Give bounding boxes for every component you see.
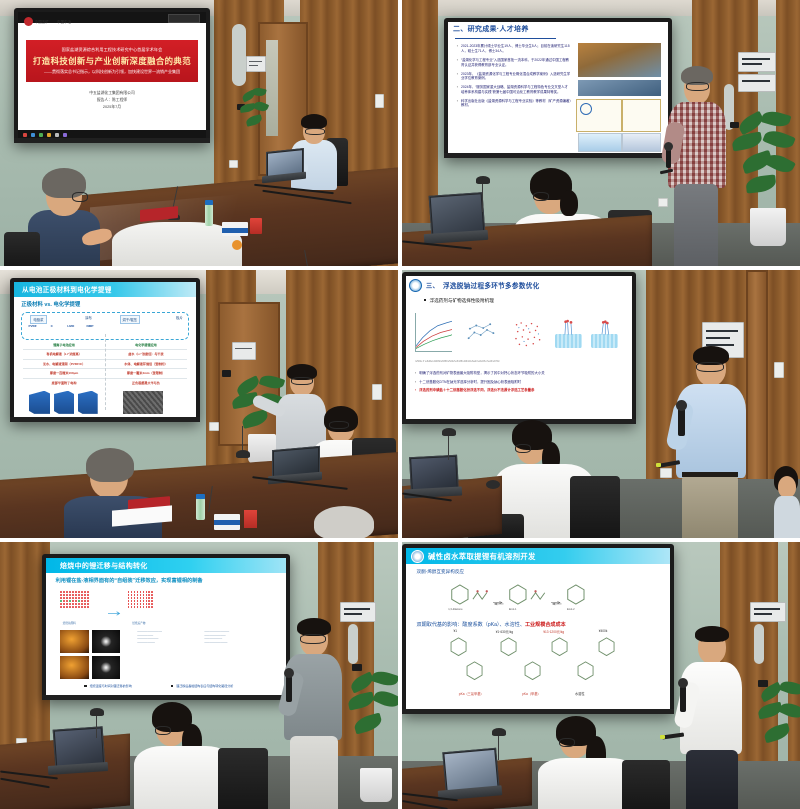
- display-screen: 从电池正极材料到电化学提锂 正极材料 vs. 电化学提锂 电极浆 涂布 烘干/辊…: [14, 282, 196, 418]
- ac-panel-line: [344, 608, 370, 610]
- lattice-atom: [63, 594, 65, 596]
- logo-minmetals: 中国五矿: [24, 17, 49, 26]
- lattice-atom: [140, 603, 142, 605]
- lattice-atom: [146, 603, 148, 605]
- ac-control-panel: [246, 56, 266, 72]
- slide-6: 碱性卤水萃取提锂有机溶剂开发 双酮-烯醇互变异构反应: [406, 548, 670, 710]
- belt: [682, 472, 738, 477]
- lattice-atom: [143, 606, 145, 608]
- person-hair: [301, 114, 327, 129]
- display-bezel-bottom: [14, 138, 210, 143]
- mineral-surface-model: [591, 334, 618, 348]
- slide-footer: 中五盐湖化工集团有限公司 报告人：陈工程师 2025年7月: [18, 91, 206, 110]
- lattice-atom: [131, 600, 133, 602]
- material-tag: PVDF: [23, 324, 42, 328]
- lattice-atom: [69, 606, 71, 608]
- lattice-atom: [78, 597, 80, 599]
- microphone-base: [236, 450, 250, 458]
- person-hair-ponytail: [560, 190, 578, 216]
- flow-label: 涂布: [85, 315, 92, 320]
- lattice-atom: [140, 591, 142, 593]
- plant-leaf: [245, 114, 263, 127]
- lattice-atom: [131, 603, 133, 605]
- bottom-note: 焙烧温度与时间对锂迁移的影响: [84, 684, 131, 688]
- bottom-note-text: 锂迁移后晶格结构表征与结构转化路径分析: [176, 684, 233, 688]
- slide-header: 碱性卤水萃取提锂有机溶剂开发: [406, 548, 670, 564]
- microphone-head-icon: [284, 668, 294, 678]
- lattice-atom-lithium: [60, 600, 62, 602]
- slide-3: 从电池正极材料到电化学提锂 正极材料 vs. 电化学提锂 电极浆 涂布 烘干/辊…: [14, 282, 196, 418]
- table-cell: 厚度一百微米100μm: [23, 370, 105, 375]
- title-underline: [455, 38, 556, 39]
- reaction-arrow-icon: [551, 593, 562, 599]
- bullet-text: 2021-2023年累计硕士毕业生19人、博士毕业生5人；目前在读研究生115人…: [461, 44, 571, 53]
- lattice-atom: [128, 603, 130, 605]
- mineral-surface-model: [555, 334, 582, 348]
- lattice-atom: [143, 600, 145, 602]
- emphasis-highlight: 工业规模合成成本: [525, 622, 566, 628]
- photo-collage: 中国五矿 中国中冶 国家盐湖资源综合利用工程技术研究中心首届学术年会 打造科技创…: [0, 0, 800, 807]
- display-screen: 焙烧中的锂迁移与结构转化 利用锂在盐-液相界面有的“自组装”迁移效应，实现富锂相…: [46, 558, 286, 696]
- logo-label: 中国中冶: [57, 19, 71, 24]
- column-header: 锂离子电池应用: [23, 342, 105, 347]
- wall-outlet: [372, 384, 382, 400]
- person-trousers: [674, 184, 718, 266]
- structure-caption: Enol-1: [509, 608, 517, 611]
- taskbar-icon: [55, 133, 59, 137]
- taskbar-icon: [31, 133, 35, 137]
- slide-bullets: ›明确了浮选药剂对矿物表面最大吸附构型，揭示了其中对钙心状态环节吸附的大小关 ›…: [415, 371, 623, 393]
- person-trousers: [682, 474, 738, 538]
- bullet-item: ›十二烷基胺化DTN在钠光学选择分析时，提升固及钠心析表面吸附时: [415, 380, 623, 385]
- slide-header: 焙烧中的锂迁移与结构转化: [46, 558, 286, 573]
- table-cell: 有机电解液（Li⁺浓度高）: [23, 351, 105, 356]
- room-scene-3: 从电池正极材料到电化学提锂 正极材料 vs. 电化学提锂 电极浆 涂布 烘干/辊…: [0, 270, 398, 538]
- microphone-head-icon: [676, 400, 687, 411]
- md-simulation-box: [510, 319, 546, 348]
- bottom-caption: pKa（三氟甲基）: [459, 691, 484, 696]
- lattice-atom: [84, 603, 86, 605]
- lattice-atom: [81, 597, 83, 599]
- person-attendee-foreground: [28, 166, 114, 266]
- table-vertical-divider: [105, 334, 107, 410]
- handheld-microphone: [680, 686, 686, 712]
- display-screen: 中国五矿 中国中冶 国家盐湖资源综合利用工程技术研究中心首届学术年会 打造科技创…: [18, 12, 206, 139]
- material-tag: NMP: [80, 324, 99, 328]
- lattice-atom: [72, 603, 74, 605]
- ac-panel-line: [742, 58, 770, 60]
- microphone-base: [492, 728, 506, 736]
- lattice-atom: [84, 594, 86, 596]
- lattice-atom: [60, 597, 62, 599]
- bullet-item: ›2021-2023年累计硕士毕业生19人、博士毕业生5人；目前在读研究生115…: [457, 44, 571, 53]
- footer-line: 中五盐湖化工集团有限公司: [89, 91, 135, 96]
- plant-leaf: [731, 132, 763, 152]
- slide-title: 从电池正极材料到电化学提锂: [22, 284, 112, 294]
- lattice-atom: [87, 597, 89, 599]
- ring-structure-icon: [448, 584, 472, 605]
- lattice-atom: [134, 606, 136, 608]
- molecular-model-diagram: [460, 316, 505, 348]
- plant-leaf: [761, 108, 792, 129]
- table-cell: 卤水（Li⁺浓度低）与干扰: [105, 351, 187, 356]
- person-trousers: [686, 750, 738, 809]
- slide-book-cover: [622, 133, 661, 152]
- material-tag: LMO: [61, 324, 80, 328]
- lattice-atom: [148, 606, 150, 608]
- wall-outlet: [375, 94, 384, 108]
- eyeglasses: [515, 444, 531, 453]
- microphone-head-icon: [664, 142, 673, 151]
- presentation-display: 二、研究成果·人才培养 ›2021-2023年累计硕士毕业生19人、博士毕业生5…: [444, 18, 672, 158]
- plant-leaf: [371, 668, 398, 688]
- lattice-atom: [63, 606, 65, 608]
- plot-curves-icon: [416, 313, 452, 350]
- bullet-marker: [424, 299, 426, 301]
- ac-panel-line: [249, 65, 258, 66]
- ring-structure-icon: [464, 661, 485, 680]
- lattice-atom: [143, 603, 145, 605]
- plant-leaf: [241, 409, 270, 429]
- lattice-atom: [69, 603, 71, 605]
- bullet-text: 2023年，《盐湖资源化学与工程专业概化混合成教学案例》入选研究生学业学位教育案…: [461, 72, 571, 81]
- plant-leaf: [778, 700, 800, 722]
- lattice-atom: [87, 606, 89, 608]
- photo-panel-6: 碱性卤水萃取提锂有机溶剂开发 双酮-烯醇互变异构反应: [402, 542, 800, 809]
- bullet-item: ›科学出版社出版《盐湖资源科学与工程专业实验》等教材（矿产资源编著）教材。: [457, 99, 571, 108]
- bullet-item: ›“盐湖化学与工程专业”入选国家首批一流本科，于2022年通过中国工程教育认证并…: [457, 58, 571, 67]
- lattice-atom: [134, 594, 136, 596]
- person-trousers: [290, 736, 338, 809]
- lattice-atom: [78, 594, 80, 596]
- lattice-atom: [87, 594, 89, 596]
- bottom-caption: 水溶性: [575, 691, 585, 696]
- table-cell: 厚度一毫米4mm（受限制）: [105, 370, 187, 375]
- lattice-atom: [60, 594, 62, 596]
- lattice-atom: [137, 594, 139, 596]
- eyeglasses: [696, 362, 724, 372]
- slide-title: 浮选脱钠过程多环节多参数优化: [443, 280, 540, 290]
- person-hair: [314, 506, 374, 538]
- potted-plant: [758, 682, 800, 809]
- lattice-atom: [72, 597, 74, 599]
- plant-leaf: [372, 687, 398, 710]
- presentation-display: 焙烧中的锂迁移与结构转化 利用锂在盐-液相界面有的“自组装”迁移效应，实现富锂相…: [42, 554, 290, 700]
- table-cell: 水体、电解液环境低（受制约）: [105, 361, 187, 366]
- lattice-atom: [78, 591, 80, 593]
- lattice-atom: [128, 591, 130, 593]
- table-cell: 底部平面附了电构: [23, 380, 105, 385]
- ac-panel-line: [706, 330, 738, 332]
- bullet-marker: [84, 685, 86, 687]
- footer-line: 2025年7月: [103, 105, 121, 110]
- flow-label: 烘干/辊压: [120, 315, 141, 323]
- potted-plant: [348, 672, 398, 809]
- eyeglasses: [329, 421, 349, 429]
- laser-pointer-tip-icon: [660, 735, 665, 739]
- eyeglasses: [533, 192, 549, 201]
- lattice-atom: [69, 594, 71, 596]
- slide-header: 三、 浮选脱钠过程多环节多参数优化: [406, 276, 632, 295]
- lattice-atom: [128, 594, 130, 596]
- lattice-atom: [140, 594, 142, 596]
- computer-mouse: [486, 480, 500, 489]
- office-chair: [570, 476, 620, 538]
- certificate-seal-icon: [580, 103, 592, 115]
- lattice-label-before: 焙烧前原料: [63, 621, 76, 625]
- ac-panel-line: [706, 337, 730, 339]
- lattice-atom: [134, 591, 136, 593]
- display-screen: 碱性卤水萃取提锂有机溶剂开发 双酮-烯醇互变异构反应: [406, 548, 670, 710]
- lattice-atom: [78, 603, 80, 605]
- ac-control-panel: [750, 602, 786, 622]
- snack-cup: [250, 218, 262, 234]
- laptop-screen: [431, 194, 484, 235]
- fruit: [232, 240, 242, 250]
- bullet-item-highlighted: ›浮选药剂中碘盐＋十二烷基胺化扮浮选不同，浮选价不法源计浮选工艺参量参: [415, 388, 623, 393]
- plant-leaf: [253, 100, 269, 114]
- battery-cell-image: [54, 391, 74, 414]
- lattice-before: [60, 591, 89, 608]
- lattice-atom: [84, 600, 86, 602]
- lattice-atom: [75, 600, 77, 602]
- structure-caption: Enol-2: [567, 608, 575, 611]
- lattice-atom: [131, 597, 133, 599]
- lattice-atom: [84, 606, 86, 608]
- plant-leaf: [745, 174, 777, 193]
- lattice-atom: [151, 594, 153, 596]
- lattice-atom: [148, 594, 150, 596]
- ac-panel-line: [754, 613, 772, 615]
- ring-structure-icon: [549, 637, 570, 656]
- lattice-atom: [137, 603, 139, 605]
- lattice-atom: [75, 606, 77, 608]
- lattice-atom: [146, 606, 148, 608]
- eyeglasses: [155, 726, 171, 735]
- lattice-atom: [63, 591, 65, 593]
- lattice-atom: [151, 591, 153, 593]
- ring-structure-icon: [596, 637, 617, 656]
- lattice-atom: [143, 591, 145, 593]
- ac-panel-line: [754, 608, 780, 610]
- tissue-box-band: [222, 228, 248, 233]
- bullet-marker: ›: [415, 388, 416, 393]
- microphone-head-icon: [678, 678, 688, 688]
- wall-outlet: [774, 362, 784, 378]
- lattice-label-after: 焙烧后产物: [132, 621, 145, 625]
- bullet-text: “盐湖化学与工程专业”入选国家首批一流本科，于2022年通过中国工程教育认证并获…: [461, 58, 571, 67]
- lattice-atom: [87, 591, 89, 593]
- bullet-marker: ›: [457, 72, 458, 81]
- sem-micrograph: [123, 391, 163, 414]
- room-scene-4: 三、 浮选脱钠过程多环节多参数优化 浮选药剂与矿物选择性吸附机理: [402, 270, 800, 538]
- slide-4: 三、 浮选脱钠过程多环节多参数优化 浮选药剂与矿物选择性吸附机理: [406, 276, 632, 420]
- bullet-text: 浮选药剂中碘盐＋十二烷基胺化扮浮选不同，浮选价不法源计浮选工艺参量参: [419, 388, 534, 393]
- lattice-atom: [72, 600, 74, 602]
- person-torso: [774, 496, 800, 538]
- flow-label: 极片: [176, 315, 183, 320]
- handheld-microphone: [666, 148, 671, 168]
- slide-subtitle: 正极材料 vs. 电化学提锂: [21, 300, 80, 308]
- column-header: 电化学提锂应用: [105, 342, 187, 347]
- figure-caption: \u56fe 3 \u6d6e\u9009\u836f\u5242\u5438\…: [415, 360, 500, 363]
- bullet-marker: ›: [415, 380, 416, 385]
- lattice-atom: [131, 606, 133, 608]
- presentation-display: 三、 浮选脱钠过程多环节多参数优化 浮选药剂与矿物选择性吸附机理: [402, 272, 636, 424]
- ring-structure-icon: [498, 637, 519, 656]
- transition-arrow-icon: [108, 604, 122, 611]
- lattice-atom: [75, 597, 77, 599]
- presentation-display: 从电池正极材料到电化学提锂 正极材料 vs. 电化学提锂 电极浆 涂布 烘干/辊…: [10, 278, 200, 422]
- eyeglasses: [291, 377, 313, 385]
- room-scene-6: 碱性卤水萃取提锂有机溶剂开发 双酮-烯醇互变异构反应: [402, 542, 800, 809]
- cost-label: ¥1·630元/kg: [496, 629, 513, 634]
- bond-chain-icon: [530, 589, 548, 602]
- emphasis-line: 双酮取代基的影响：酸度系数（pKa）、水溶性、工业规模合成成本: [417, 621, 566, 628]
- lattice-atom: [81, 591, 83, 593]
- bottom-note: 锂迁移后晶格结构表征与结构转化路径分析: [171, 684, 233, 688]
- slide-header: 二、研究成果·人才培养: [448, 22, 668, 37]
- wall-outlet: [229, 160, 238, 168]
- plant-leaf: [763, 723, 792, 744]
- ring-structure-icon: [448, 637, 469, 656]
- microphone-base: [90, 708, 104, 716]
- ac-control-panel: [738, 52, 776, 72]
- handheld-microphone: [678, 408, 685, 436]
- diffraction-pattern-image: [92, 656, 121, 679]
- slide-photo-lab: [578, 80, 662, 96]
- lattice-atom: [75, 603, 77, 605]
- lattice-atom: [66, 606, 68, 608]
- slide-bullets: ›2021-2023年累计硕士毕业生19人、博士毕业生5人；目前在读研究生115…: [457, 44, 571, 108]
- adsorbed-molecule-icon: [557, 315, 580, 335]
- section-label: 双酮-烯醇互变异构反应: [417, 569, 464, 575]
- lattice-atom: [146, 600, 148, 602]
- lattice-atom: [75, 594, 77, 596]
- lattice-atom: [146, 594, 148, 596]
- slide-2: 二、研究成果·人才培养 ›2021-2023年累计硕士毕业生19人、博士毕业生5…: [448, 22, 668, 154]
- slide-subtitle: ——贯彻落实总书记指示，以科技创新为引领，加快建设世界一流销产业集团: [44, 69, 180, 75]
- ac-panel-line: [742, 80, 770, 82]
- water-bottle: [205, 204, 213, 226]
- office-chair: [4, 232, 40, 266]
- wall-sensor: [352, 664, 362, 671]
- cost-label: ¥13·1200元/kg: [543, 629, 564, 634]
- taskbar-icon: [63, 133, 67, 137]
- wall-outlet: [209, 422, 219, 431]
- lattice-atom: [137, 597, 139, 599]
- plant-leaf: [347, 691, 375, 710]
- lattice-atom-lithium: [69, 600, 71, 602]
- plant-leaf: [352, 712, 383, 734]
- lattice-atom: [66, 597, 68, 599]
- laptop-screen: [411, 457, 457, 491]
- lattice-atom: [140, 600, 142, 602]
- bullet-marker: ›: [457, 99, 458, 108]
- photo-panel-5: 焙烧中的锂迁移与结构转化 利用锂在盐-液相界面有的“自组装”迁移效应，实现富锂相…: [0, 542, 398, 809]
- taskbar-icon: [23, 133, 27, 137]
- bullet-text: 十二烷基胺化DTN在钠光学选择分析时，提升固及钠心析表面吸附时: [419, 380, 521, 385]
- lattice-atom: [134, 597, 136, 599]
- room-scene-2: 二、研究成果·人才培养 ›2021-2023年累计硕士毕业生19人、博士毕业生5…: [402, 0, 800, 266]
- lattice-atom: [63, 600, 65, 602]
- diffraction-pattern-image: [92, 630, 121, 653]
- bullet-marker: ›: [415, 371, 416, 376]
- microphone-base: [476, 176, 490, 184]
- eyeglasses: [559, 738, 575, 747]
- lattice-atom: [87, 600, 89, 602]
- ring-structure-icon: [575, 661, 596, 680]
- lattice-atom: [146, 591, 148, 593]
- lattice-atom: [84, 597, 86, 599]
- battery-cell-image: [29, 391, 51, 414]
- slide-logos: 中国五矿 中国中冶: [24, 17, 72, 26]
- taskbar-icon: [39, 133, 43, 137]
- slide-title-band: 国家盐湖资源综合利用工程技术研究中心首届学术年会 打造科技创新与产业创新深度融合…: [26, 40, 199, 82]
- bottom-note-text: 焙烧温度与时间对锂迁移的影响: [90, 684, 132, 688]
- bullet-item: ›2024年，“服务国家重大战略、盐湖资源科学与工程特色专业交叉型人才培养体系构…: [457, 85, 571, 94]
- photo-panel-3: 从电池正极材料到电化学提锂 正极材料 vs. 电化学提锂 电极浆 涂布 烘干/辊…: [0, 270, 398, 538]
- institution-seal-icon: [411, 550, 424, 563]
- lattice-atom: [134, 600, 136, 602]
- lattice-atom: [140, 606, 142, 608]
- person-hair: [695, 626, 729, 642]
- slide-title: 碱性卤水萃取提锂有机溶剂开发: [428, 551, 536, 562]
- slide-photo-conference: [578, 43, 662, 77]
- lattice-atom: [137, 606, 139, 608]
- lattice-atom: [63, 597, 65, 599]
- emphasis-prefix: 双酮取代基的影响：酸度系数（pKa）、水溶性、: [417, 622, 525, 628]
- lattice-atom: [87, 603, 89, 605]
- lattice-atom: [60, 606, 62, 608]
- plant-pot: [360, 768, 392, 802]
- ac-control-panel: [738, 74, 776, 92]
- lattice-atom: [60, 591, 62, 593]
- bullet-marker: [171, 685, 173, 687]
- taskbar-icon: [47, 133, 51, 137]
- person-head: [778, 476, 796, 498]
- slide-supertitle: 国家盐湖资源综合利用工程技术研究中心首届学术年会: [62, 47, 163, 53]
- office-chair: [218, 748, 268, 809]
- battery-cell-image: [78, 391, 98, 414]
- lattice-atom: [148, 603, 150, 605]
- ac-panel-line: [235, 348, 252, 349]
- lattice-atom: [137, 600, 139, 602]
- lattice-atom: [81, 606, 83, 608]
- slide-main-title: 打造科技创新与产业创新深度融合的典范: [33, 55, 191, 67]
- slide-5: 焙烧中的锂迁移与结构转化 利用锂在盐-液相界面有的“自组装”迁移效应，实现富锂相…: [46, 558, 286, 696]
- display-bezel-bottom: [444, 153, 672, 158]
- particle-cloud-icon: [510, 319, 546, 348]
- adsorbed-molecule-icon: [594, 315, 617, 335]
- footer-line: 报告人：陈工程师: [97, 98, 127, 103]
- lattice-atom: [66, 600, 68, 602]
- slide-title: 二、研究成果·人才培养: [453, 24, 529, 34]
- slide-certificate: [576, 99, 622, 133]
- slide-1: 中国五矿 中国中冶 国家盐湖资源综合利用工程技术研究中心首届学术年会 打造科技创…: [18, 12, 206, 139]
- lattice-atom: [81, 594, 83, 596]
- lattice-atom: [78, 606, 80, 608]
- handheld-microphone: [286, 676, 292, 702]
- slide-book-cover: [578, 133, 622, 152]
- lattice-atom: [151, 606, 153, 608]
- ring-structure-icon: [564, 584, 588, 605]
- ceiling-speaker: [232, 24, 246, 86]
- bullet-heading: 浮选药剂与矿物选择性吸附机理: [424, 298, 494, 304]
- photo-panel-2: 二、研究成果·人才培养 ›2021-2023年累计硕士毕业生19人、博士毕业生5…: [402, 0, 800, 266]
- reaction-arrow-icon: [493, 593, 504, 599]
- office-chair: [622, 760, 670, 809]
